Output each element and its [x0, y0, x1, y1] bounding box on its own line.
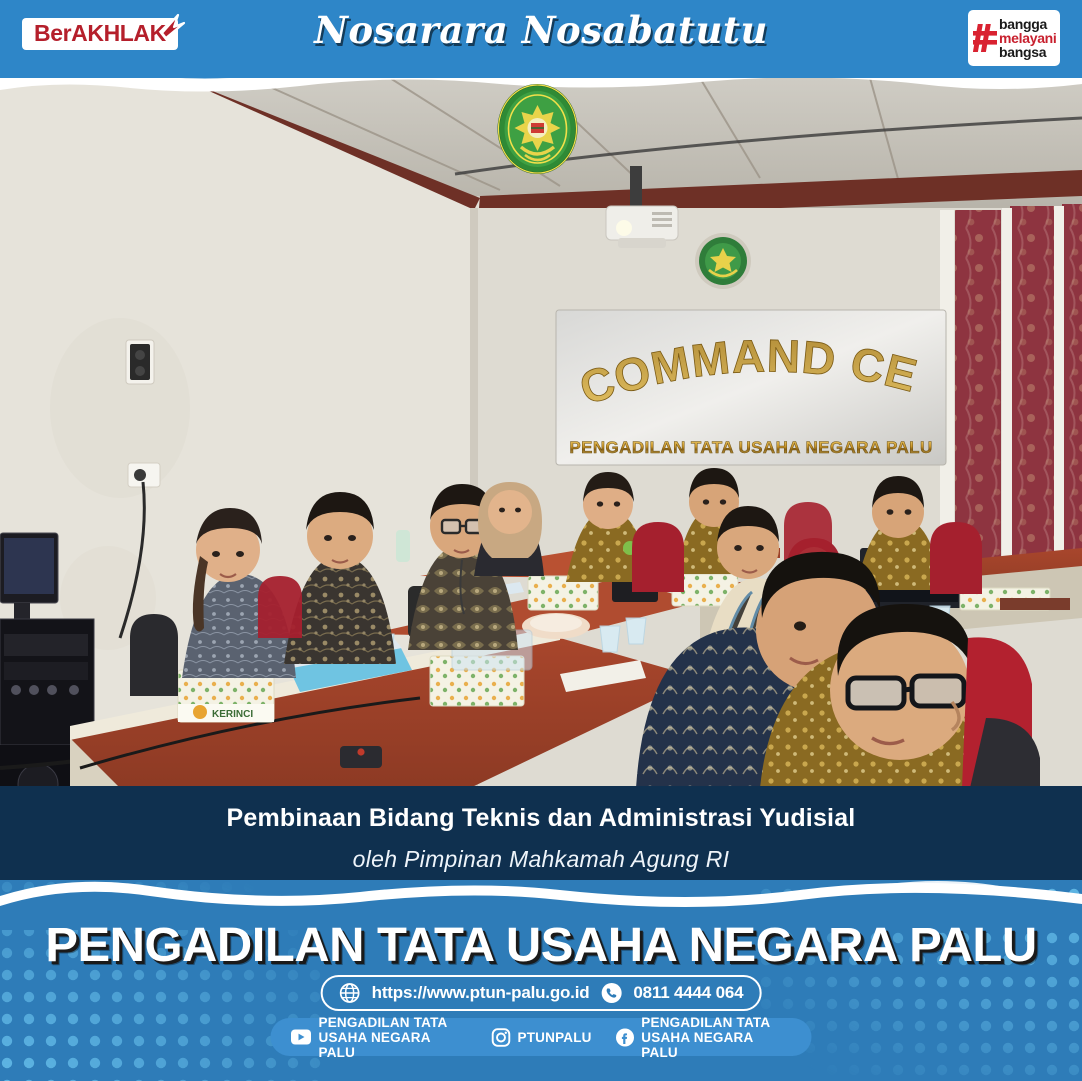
poster-root: BerAKHLAK Nosarara Nosabatutu bangga mel… — [0, 0, 1082, 1081]
slogan-text: Nosarara Nosabatutu — [0, 8, 1082, 52]
social-item-youtube[interactable]: PENGADILAN TATA USAHA NEGARA PALU — [291, 1015, 468, 1060]
social-item-instagram[interactable]: PTUNPALU — [492, 1028, 592, 1047]
mahkamah-agung-seal-emblem — [495, 83, 580, 175]
facebook-icon — [615, 1028, 634, 1047]
facebook-handle: PENGADILAN TATA USAHA NEGARA PALU — [641, 1015, 791, 1060]
social-media-bar: PENGADILAN TATA USAHA NEGARA PALU PTUNPA… — [271, 1018, 812, 1056]
youtube-handle: PENGADILAN TATA USAHA NEGARA PALU — [319, 1015, 468, 1060]
attendee-4 — [474, 482, 544, 576]
social-item-facebook[interactable]: PENGADILAN TATA USAHA NEGARA PALU — [615, 1015, 791, 1060]
command-center-sign-subtext: PENGADILAN TATA USAHA NEGARA PALU — [569, 438, 932, 457]
youtube-icon — [291, 1029, 312, 1045]
photo-illustration: COMMAND CENTER PENGADILAN TATA USAHA NEG… — [0, 78, 1082, 788]
website-url[interactable]: https://www.ptun-palu.go.id — [372, 983, 590, 1003]
instagram-icon — [492, 1028, 511, 1047]
bangga-line-1: bangga — [999, 17, 1057, 31]
globe-icon — [339, 982, 361, 1004]
instagram-handle: PTUNPALU — [518, 1030, 592, 1045]
header-bar: BerAKHLAK Nosarara Nosabatutu bangga mel… — [0, 0, 1082, 78]
event-photo: COMMAND CENTER PENGADILAN TATA USAHA NEG… — [0, 78, 1082, 788]
bangga-melayani-bangsa-logo: bangga melayani bangsa — [968, 10, 1060, 66]
whatsapp-icon — [600, 982, 622, 1004]
hashtag-icon — [973, 23, 997, 53]
bangga-line-3: bangsa — [999, 45, 1057, 59]
phone-number[interactable]: 0811 4444 064 — [633, 983, 743, 1003]
bangga-line-2: melayani — [999, 31, 1057, 45]
caption-subtitle: oleh Pimpinan Mahkamah Agung RI — [0, 846, 1082, 873]
page-title: PENGADILAN TATA USAHA NEGARA PALU — [0, 918, 1082, 973]
contact-pill: https://www.ptun-palu.go.id 0811 4444 06… — [321, 975, 762, 1011]
snack-box-brand-text: KERINCI — [212, 709, 253, 720]
caption-title: Pembinaan Bidang Teknis dan Administrasi… — [0, 804, 1082, 833]
